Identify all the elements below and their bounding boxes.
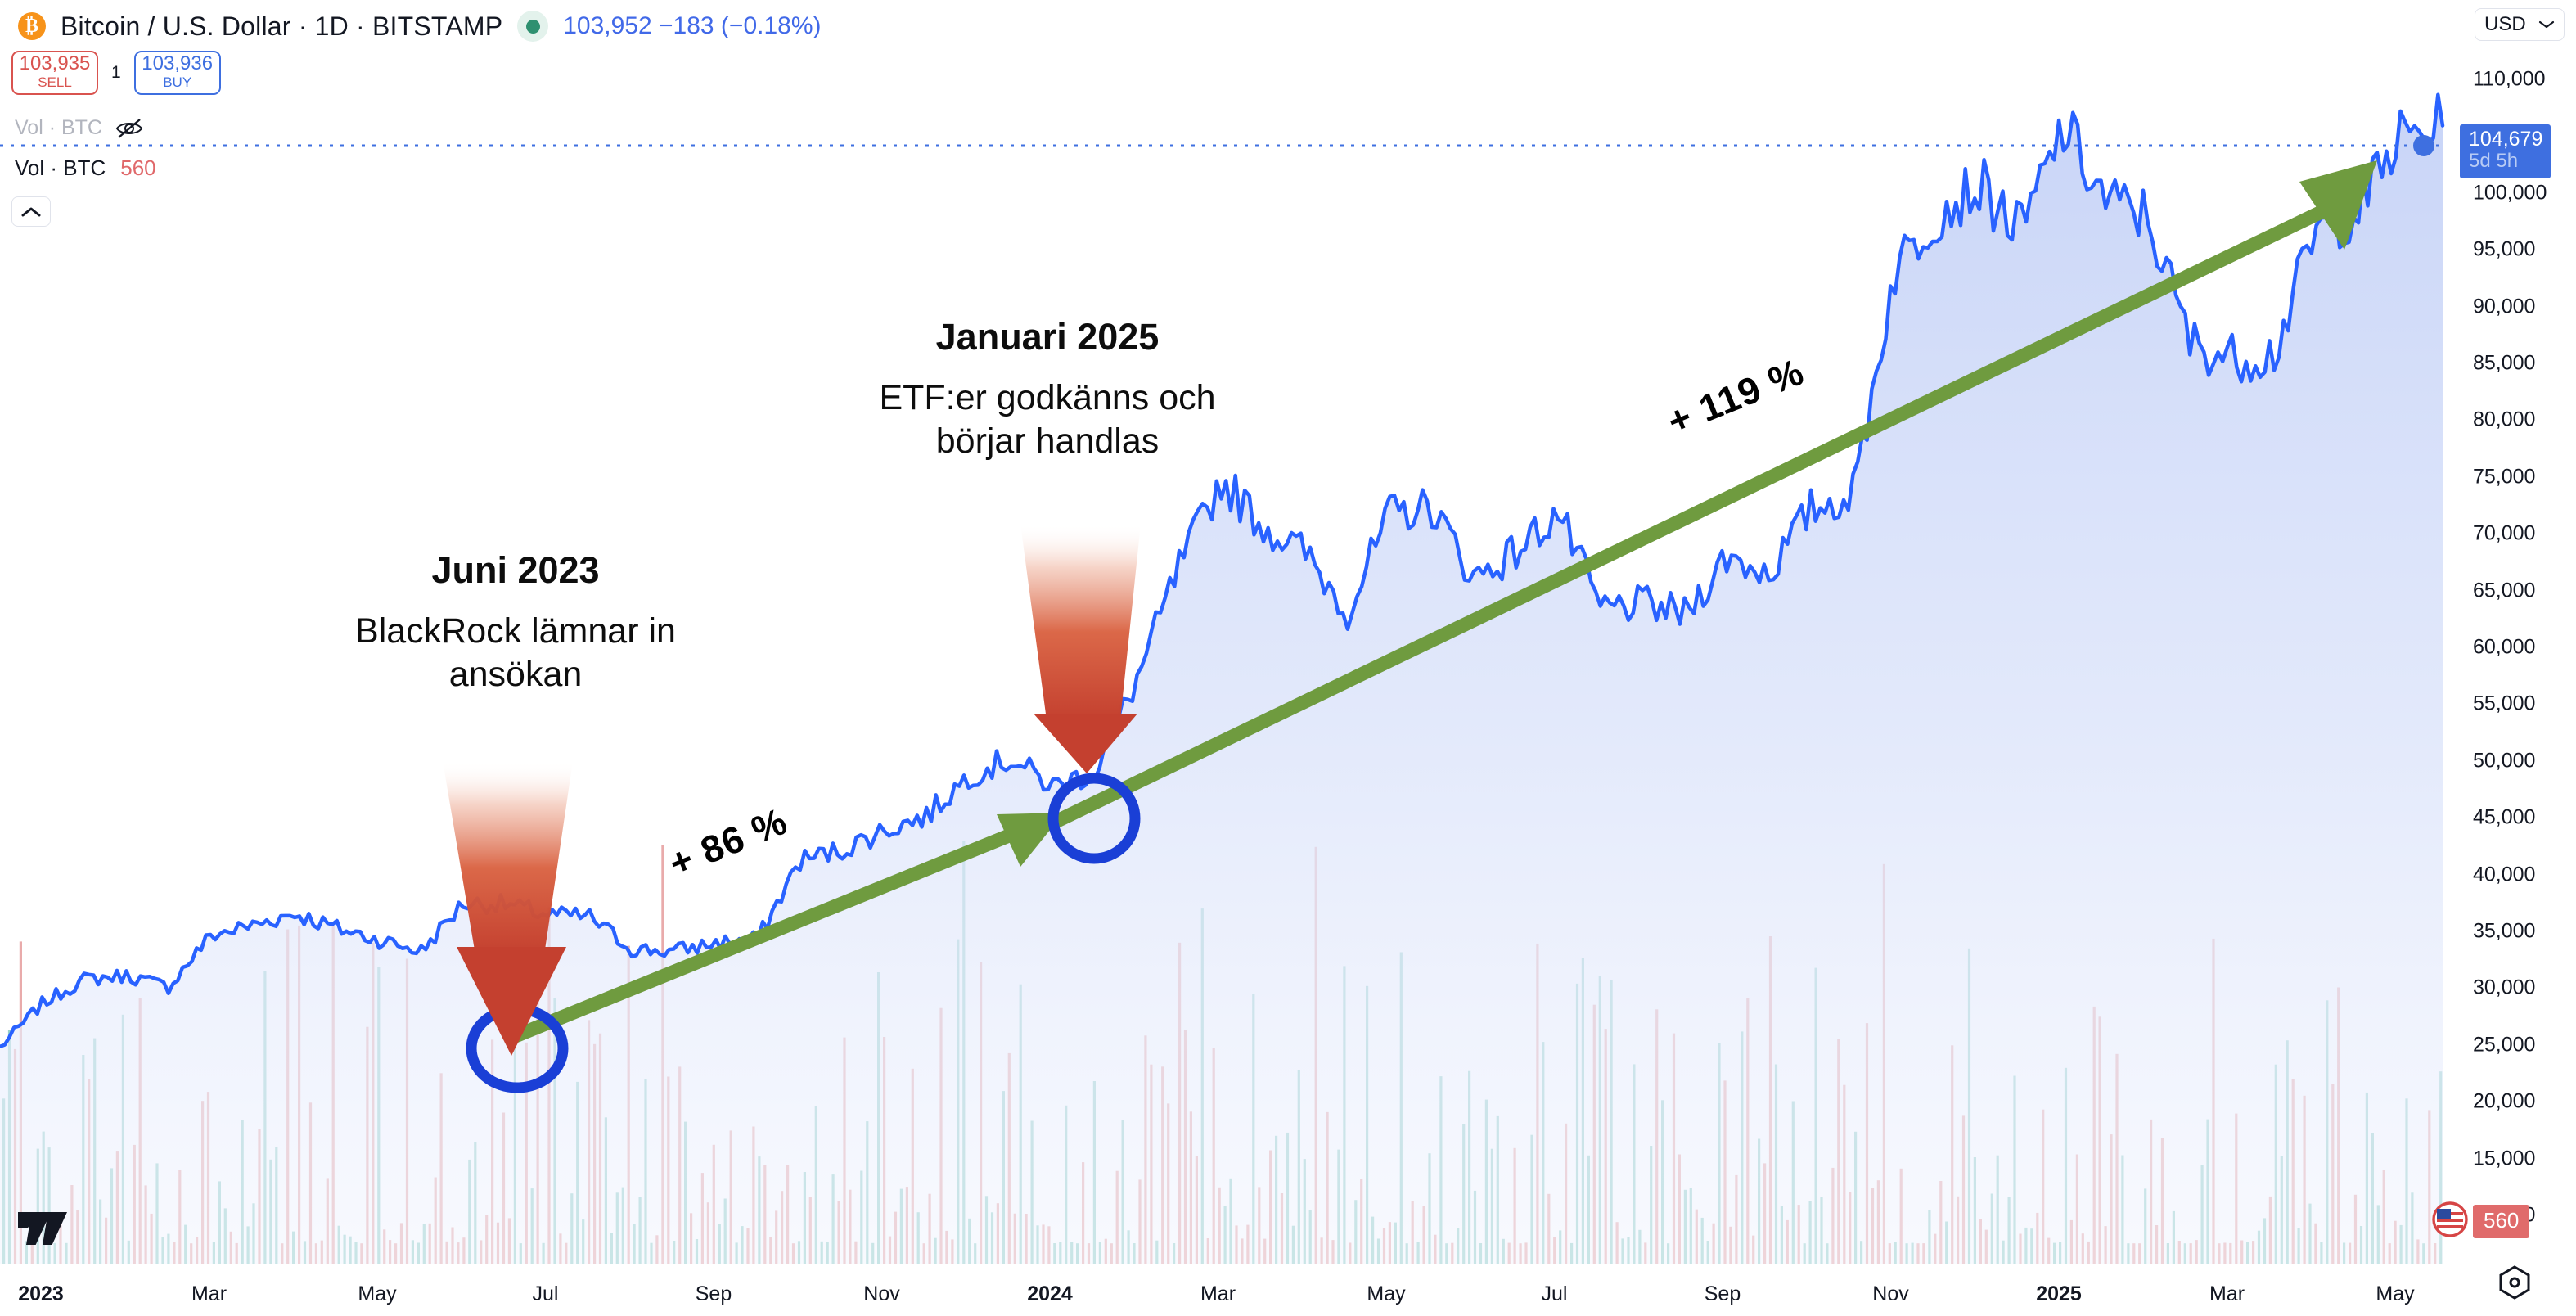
- annotation-body-line1: ETF:er godkänns och: [802, 376, 1293, 419]
- quote-value: 103,952 −183 (−0.18%): [563, 12, 821, 40]
- price-tick: 110,000: [2473, 68, 2546, 92]
- market-open-dot-inner: [526, 20, 540, 34]
- bitcoin-icon: ₿: [18, 12, 46, 40]
- time-tick: May: [1367, 1282, 1405, 1306]
- time-scale[interactable]: 2023MarMayJulSepNov2024MarMayJulSepNov20…: [0, 1264, 2455, 1316]
- annotation-januari-2025: Januari 2025 ETF:er godkänns och börjar …: [802, 315, 1293, 462]
- eye-hidden-icon[interactable]: [115, 118, 143, 139]
- price-tick: 55,000: [2473, 692, 2535, 716]
- volume-label: Vol · BTC: [15, 155, 106, 181]
- time-tick: 2025: [2036, 1282, 2082, 1306]
- price-tick: 15,000: [2473, 1147, 2535, 1170]
- currency-label: USD: [2484, 13, 2526, 36]
- price-tick: 85,000: [2473, 352, 2535, 376]
- chevron-down-icon: [2538, 20, 2555, 29]
- sell-price: 103,935: [20, 54, 91, 74]
- price-tick: 80,000: [2473, 408, 2535, 432]
- hidden-volume-legend[interactable]: Vol · BTC: [15, 116, 143, 140]
- time-tick: 2023: [18, 1282, 64, 1306]
- price-tick: 60,000: [2473, 636, 2535, 660]
- buy-price: 103,936: [142, 54, 213, 74]
- price-tick: 30,000: [2473, 976, 2535, 1000]
- price-tick: 65,000: [2473, 579, 2535, 602]
- annotation-body-line1: BlackRock lämnar in: [237, 610, 794, 652]
- price-tick: 75,000: [2473, 465, 2535, 489]
- price-scale[interactable]: USD 110,000105,000100,00095,00090,00085,…: [2455, 0, 2576, 1264]
- time-tick: Sep: [1705, 1282, 1741, 1306]
- volume-legend[interactable]: Vol · BTC 560: [15, 155, 156, 181]
- symbol-title[interactable]: Bitcoin / U.S. Dollar · 1D · BITSTAMP: [61, 11, 502, 42]
- time-tick: Nov: [1872, 1282, 1908, 1306]
- annotation-body-line2: börjar handlas: [802, 420, 1293, 462]
- trade-panel: 103,935 SELL 1 103,936 BUY: [11, 51, 221, 95]
- time-tick: Mar: [1200, 1282, 1236, 1306]
- price-tick: 50,000: [2473, 749, 2535, 773]
- sell-label: SELL: [38, 74, 72, 92]
- market-open-dot-icon[interactable]: [517, 11, 548, 42]
- buy-label: BUY: [163, 74, 191, 92]
- price-tick: 25,000: [2473, 1033, 2535, 1057]
- annotation-june-2023: Juni 2023 BlackRock lämnar in ansökan: [237, 548, 794, 696]
- collapse-pane-button[interactable]: [11, 196, 51, 227]
- hidden-volume-label: Vol · BTC: [15, 116, 102, 140]
- time-tick: Sep: [696, 1282, 732, 1306]
- last-price-dot: [2413, 135, 2434, 156]
- annotation-title: Januari 2025: [802, 315, 1293, 358]
- time-tick: May: [2376, 1282, 2414, 1306]
- countdown-value: 5d 5h: [2469, 151, 2542, 173]
- volume-badge: 560: [2473, 1205, 2529, 1238]
- currency-select[interactable]: USD: [2475, 8, 2565, 41]
- buy-button[interactable]: 103,936 BUY: [134, 51, 221, 95]
- time-tick: Mar: [2209, 1282, 2245, 1306]
- annotation-title: Juni 2023: [237, 548, 794, 592]
- price-tick: 95,000: [2473, 238, 2535, 262]
- time-tick: May: [358, 1282, 396, 1306]
- price-tick: 45,000: [2473, 806, 2535, 830]
- sell-button[interactable]: 103,935 SELL: [11, 51, 98, 95]
- price-tick: 100,000: [2473, 181, 2547, 205]
- time-tick: 2024: [1027, 1282, 1073, 1306]
- time-tick: Jul: [1542, 1282, 1568, 1306]
- time-tick: Mar: [191, 1282, 227, 1306]
- tradingview-chart-app: + 86 % + 119 % Juni 2023 BlackRock lämna…: [0, 0, 2576, 1316]
- order-quantity[interactable]: 1: [111, 63, 121, 83]
- last-price-badge[interactable]: 104,679 5d 5h: [2460, 124, 2551, 178]
- price-tick: 90,000: [2473, 295, 2535, 318]
- annotation-body-line2: ansökan: [237, 653, 794, 696]
- chevron-up-icon: [21, 206, 41, 218]
- hex-settings-icon[interactable]: [2497, 1264, 2532, 1300]
- tradingview-logo[interactable]: [18, 1211, 67, 1246]
- price-tick: 70,000: [2473, 522, 2535, 546]
- us-flag-icon: [2432, 1201, 2468, 1237]
- time-tick: Jul: [533, 1282, 559, 1306]
- last-price-value: 104,679: [2469, 128, 2542, 151]
- time-tick: Nov: [863, 1282, 899, 1306]
- volume-value: 560: [120, 155, 155, 181]
- price-tick: 35,000: [2473, 920, 2535, 944]
- price-tick: 20,000: [2473, 1090, 2535, 1114]
- chart-header: ₿ Bitcoin / U.S. Dollar · 1D · BITSTAMP …: [18, 7, 822, 46]
- price-tick: 40,000: [2473, 863, 2535, 886]
- volume-badge-value: 560: [2484, 1208, 2519, 1233]
